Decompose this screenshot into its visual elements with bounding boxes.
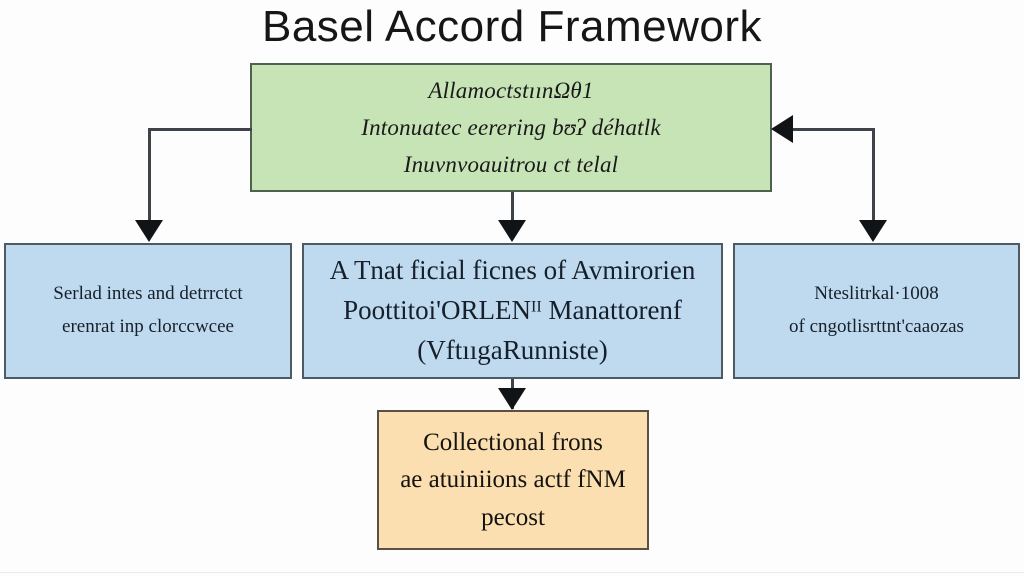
outcome-node-line-2: ae atuiniions actf fNM [400,461,626,499]
outcome-node[interactable]: Collectional frons ae atuiniions actf fN… [377,410,649,550]
arrowhead-left-pillar [135,220,163,242]
pillar-right-node-line-2: of cngotlisrttnt'caaozas [789,311,964,344]
governance-node[interactable]: AllamoctstıınΩθ1 Intonuatec eerering bʊʔ… [250,63,772,192]
pillar-right-node-line-1: Nteslitrkal·1008 [814,278,939,311]
arrowhead-outcome [498,388,526,410]
arrowhead-center-pillar [498,220,526,242]
pillar-left-node-line-2: erenrat inp clorccwcee [62,311,234,344]
pillar-left-node-line-1: Serlad intes and detrrctct [53,278,242,311]
pillar-right-node[interactable]: Nteslitrkal·1008 of cngotlisrttnt'caaoza… [733,243,1020,379]
diagram-canvas: Basel Accord Framework AllamoctstıınΩθ1 … [0,0,1024,576]
governance-node-line-3: Inuvnvoauitrou ct telal [404,146,619,183]
arrowhead-right-pillar [859,220,887,242]
pillar-center-node-line-1: A Tnat ficial ficnes of Avmirorien [330,251,696,291]
outcome-node-line-1: Collectional frons [423,424,603,462]
frame-bottom-rule [0,572,1024,573]
arrowhead-green-inbound [771,115,793,143]
outcome-node-line-3: pecost [481,499,545,537]
page-title: Basel Accord Framework [0,2,1024,52]
pillar-center-node-line-3: (VftııgaRunniste) [417,331,607,371]
connector-right-branch-vertical [872,128,875,220]
connector-green-to-left-pillar-vertical [148,128,151,220]
connector-green-to-center-pillar-vertical [511,192,514,222]
connector-green-to-left-pillar-horizontal [148,128,252,131]
pillar-left-node[interactable]: Serlad intes and detrrctct erenrat inp c… [4,243,292,379]
pillar-center-node[interactable]: A Tnat ficial ficnes of Avmirorien Poott… [302,243,723,379]
connector-right-branch-horizontal [793,128,875,131]
governance-node-line-1: AllamoctstıınΩθ1 [428,72,593,109]
governance-node-line-2: Intonuatec eerering bʊʔ déhatlk [361,109,660,146]
pillar-center-node-line-2: Poottitoi'ORLENᴵᴵ Manattorenf [343,291,682,331]
